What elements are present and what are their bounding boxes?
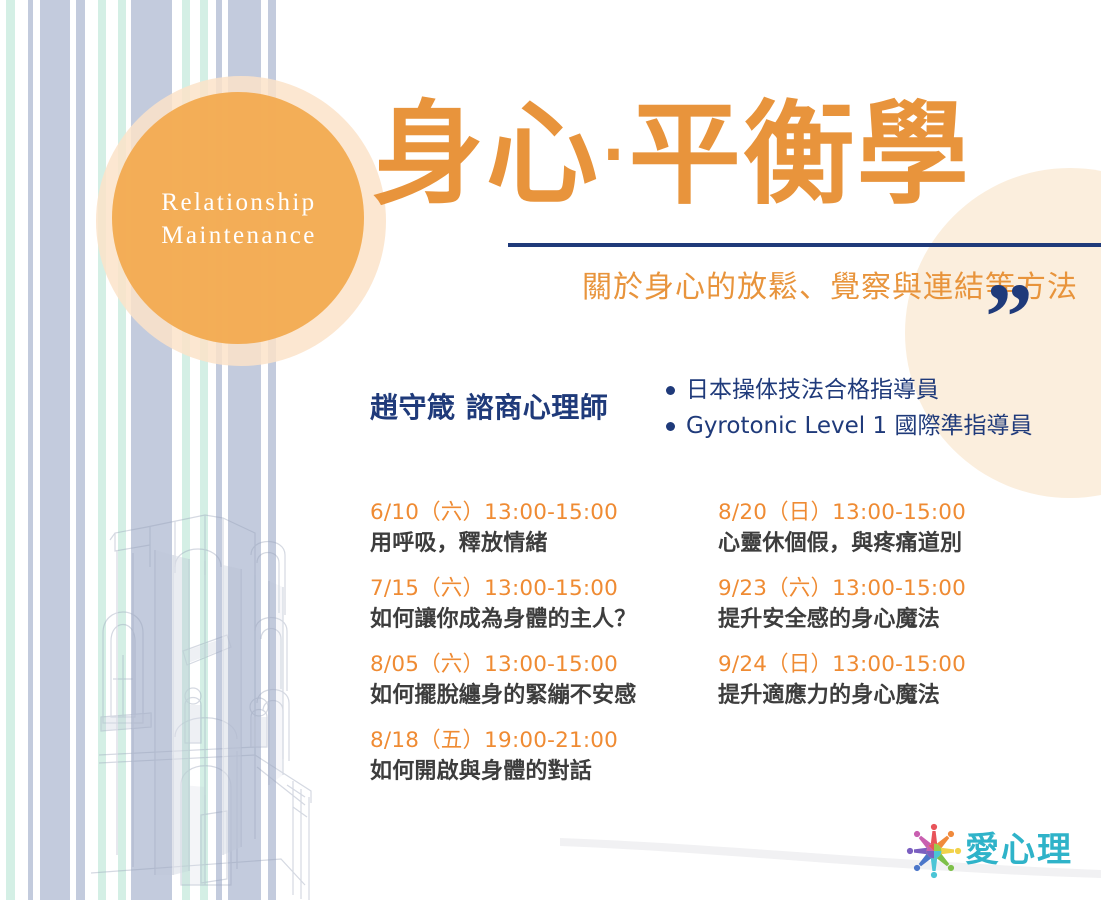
schedule-column-left: 6/10（六）13:00-15:00 用呼吸，釋放情緒 7/15（六）13:00… xyxy=(370,498,700,802)
speaker-credentials-list: 日本操体技法合格指導員 Gyrotonic Level 1 國際準指導員 xyxy=(666,372,1032,444)
session-item: 7/15（六）13:00-15:00 如何讓你成為身體的主人？ xyxy=(370,574,700,636)
session-datetime: 8/18（五）19:00-21:00 xyxy=(370,726,700,756)
badge-line-2: Maintenance xyxy=(108,219,370,252)
title-part-2: 平衡學 xyxy=(629,90,971,220)
close-quote-icon: ” xyxy=(985,288,1033,346)
stripe-0 xyxy=(6,0,15,900)
schedule-column-right: 8/20（日）13:00-15:00 心靈休個假，與疼痛道別 9/23（六）13… xyxy=(718,498,1048,726)
credential-item: 日本操体技法合格指導員 xyxy=(666,372,1032,408)
session-topic: 提升安全感的身心魔法 xyxy=(718,604,1048,636)
building-line-art xyxy=(55,455,315,900)
session-item: 9/23（六）13:00-15:00 提升安全感的身心魔法 xyxy=(718,574,1048,636)
session-item: 9/24（日）13:00-15:00 提升適應力的身心魔法 xyxy=(718,650,1048,712)
credential-label: 日本操体技法合格指導員 xyxy=(686,372,939,408)
session-datetime: 6/10（六）13:00-15:00 xyxy=(370,498,700,528)
poster-canvas: Relationship Maintenance 身心·平衡學 關於身心的放鬆、… xyxy=(0,0,1101,900)
rainbow-starburst-icon xyxy=(905,822,963,880)
session-datetime: 9/23（六）13:00-15:00 xyxy=(718,574,1048,604)
badge-text: Relationship Maintenance xyxy=(108,186,370,252)
badge-line-1: Relationship xyxy=(108,186,370,219)
brand-logo-text: 愛心理 xyxy=(965,828,1073,872)
title-part-1: 身心 xyxy=(372,90,600,220)
stripe-1 xyxy=(28,0,33,900)
page-subtitle: 關於身心的放鬆、覺察與連結等方法 xyxy=(0,262,1078,306)
title-separator-dot: · xyxy=(602,120,627,190)
speaker-name: 趙守箴 諮商心理師 xyxy=(370,386,608,426)
bullet-icon xyxy=(666,422,675,431)
session-datetime: 8/05（六）13:00-15:00 xyxy=(370,650,700,680)
session-topic: 心靈休個假，與疼痛道別 xyxy=(718,528,1048,560)
credential-item: Gyrotonic Level 1 國際準指導員 xyxy=(666,408,1032,444)
session-datetime: 7/15（六）13:00-15:00 xyxy=(370,574,700,604)
session-item: 8/18（五）19:00-21:00 如何開啟與身體的對話 xyxy=(370,726,700,788)
session-item: 6/10（六）13:00-15:00 用呼吸，釋放情緒 xyxy=(370,498,700,560)
session-topic: 用呼吸，釋放情緒 xyxy=(370,528,700,560)
title-divider-rule xyxy=(508,243,1101,247)
credential-label: Gyrotonic Level 1 國際準指導員 xyxy=(686,408,1032,444)
session-datetime: 9/24（日）13:00-15:00 xyxy=(718,650,1048,680)
bullet-icon xyxy=(666,386,675,395)
brand-logo[interactable]: 愛心理 xyxy=(905,818,1080,884)
session-topic: 如何讓你成為身體的主人？ xyxy=(370,604,700,636)
session-datetime: 8/20（日）13:00-15:00 xyxy=(718,498,1048,528)
session-topic: 提升適應力的身心魔法 xyxy=(718,680,1048,712)
page-title: 身心·平衡學 xyxy=(372,96,971,214)
session-topic: 如何擺脫纏身的緊繃不安感 xyxy=(370,680,700,712)
session-item: 8/20（日）13:00-15:00 心靈休個假，與疼痛道別 xyxy=(718,498,1048,560)
session-item: 8/05（六）13:00-15:00 如何擺脫纏身的緊繃不安感 xyxy=(370,650,700,712)
session-topic: 如何開啟與身體的對話 xyxy=(370,756,700,788)
